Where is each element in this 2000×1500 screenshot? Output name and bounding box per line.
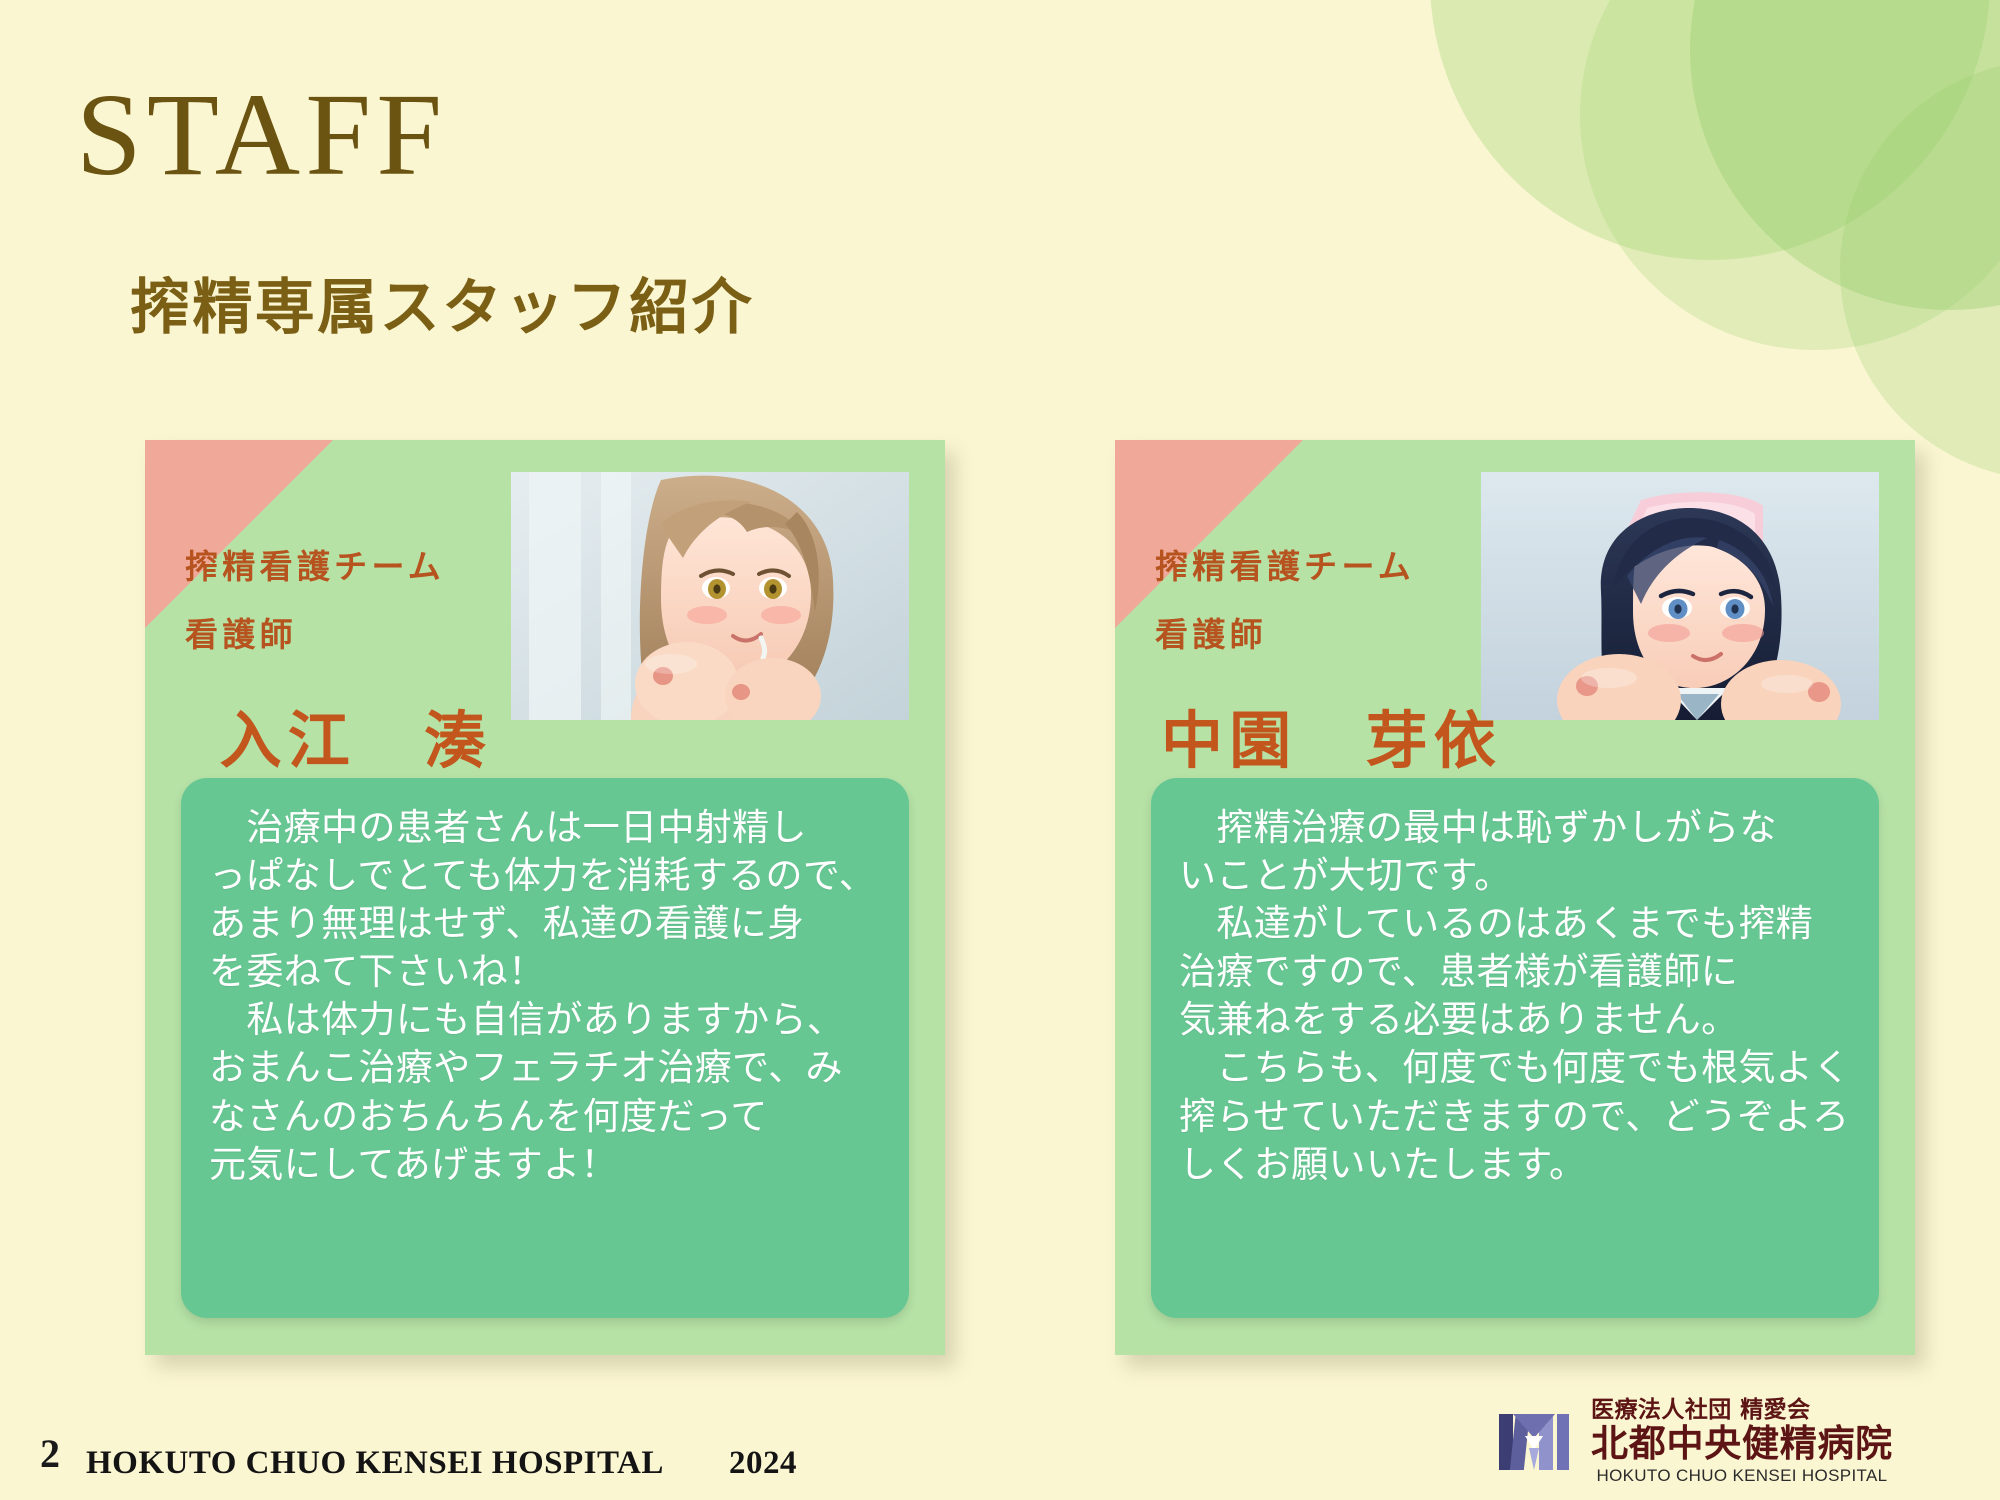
logo-org-small: 医療法人社団 精愛会 — [1591, 1398, 1893, 1421]
page-subtitle: 搾精専属スタッフ紹介 — [130, 278, 754, 338]
hospital-logo-mark-icon — [1495, 1402, 1573, 1480]
page-title: STAFF — [76, 76, 447, 194]
staff-description-text-1: 治療中の患者さんは一日中射精し っぱなしでとても体力を消耗するので、 あまり無理… — [209, 804, 881, 1189]
logo-org-big: 北都中央健精病院 — [1591, 1425, 1893, 1462]
staff-description-text-2: 搾精治療の最中は恥ずかしがらな いことが大切です。 私達がしているのはあくまでも… — [1179, 804, 1851, 1189]
staff-name-2: 中園 芽依 — [1161, 690, 1491, 780]
slide-canvas: STAFF 搾精専属スタッフ紹介 — [0, 0, 2000, 1500]
staff-card-2: 搾精看護チーム 看護師 中園 芽依 搾精治療の最中は恥ずかしがらな いことが大切… — [1115, 440, 1915, 1355]
deco-circle-2-icon — [1690, 0, 2000, 310]
staff-team-label-1: 搾精看護チーム — [185, 540, 445, 588]
footer-hospital-text: HOKUTO CHUO KENSEI HOSPITAL 2024 — [86, 1435, 797, 1483]
corner-accent-triangle — [1115, 440, 1303, 628]
staff-portrait-1 — [511, 472, 909, 720]
hospital-logo: 医療法人社団 精愛会 北都中央健精病院 HOKUTO CHUO KENSEI H… — [1495, 1398, 1893, 1484]
logo-org-english: HOKUTO CHUO KENSEI HOSPITAL — [1591, 1467, 1893, 1484]
staff-team-label-2: 搾精看護チーム — [1155, 540, 1415, 588]
page-number: 2 — [40, 1430, 60, 1477]
staff-description-bubble-1: 治療中の患者さんは一日中射精し っぱなしでとても体力を消耗するので、 あまり無理… — [181, 778, 909, 1318]
deco-circle-3-icon — [1580, 0, 2000, 350]
deco-circle-1-icon — [1430, 0, 1990, 260]
staff-card-1: 搾精看護チーム 看護師 入江 湊 治療中の患者さんは一日中射精し っぱなしでとて… — [145, 440, 945, 1355]
staff-description-bubble-2: 搾精治療の最中は恥ずかしがらな いことが大切です。 私達がしているのはあくまでも… — [1151, 778, 1879, 1318]
staff-name-1: 入江 湊 — [191, 690, 521, 780]
staff-role-label-2: 看護師 — [1155, 608, 1267, 656]
staff-portrait-2 — [1481, 472, 1879, 720]
corner-accent-triangle — [145, 440, 333, 628]
deco-circle-4-icon — [1840, 60, 2000, 480]
staff-role-label-1: 看護師 — [185, 608, 297, 656]
